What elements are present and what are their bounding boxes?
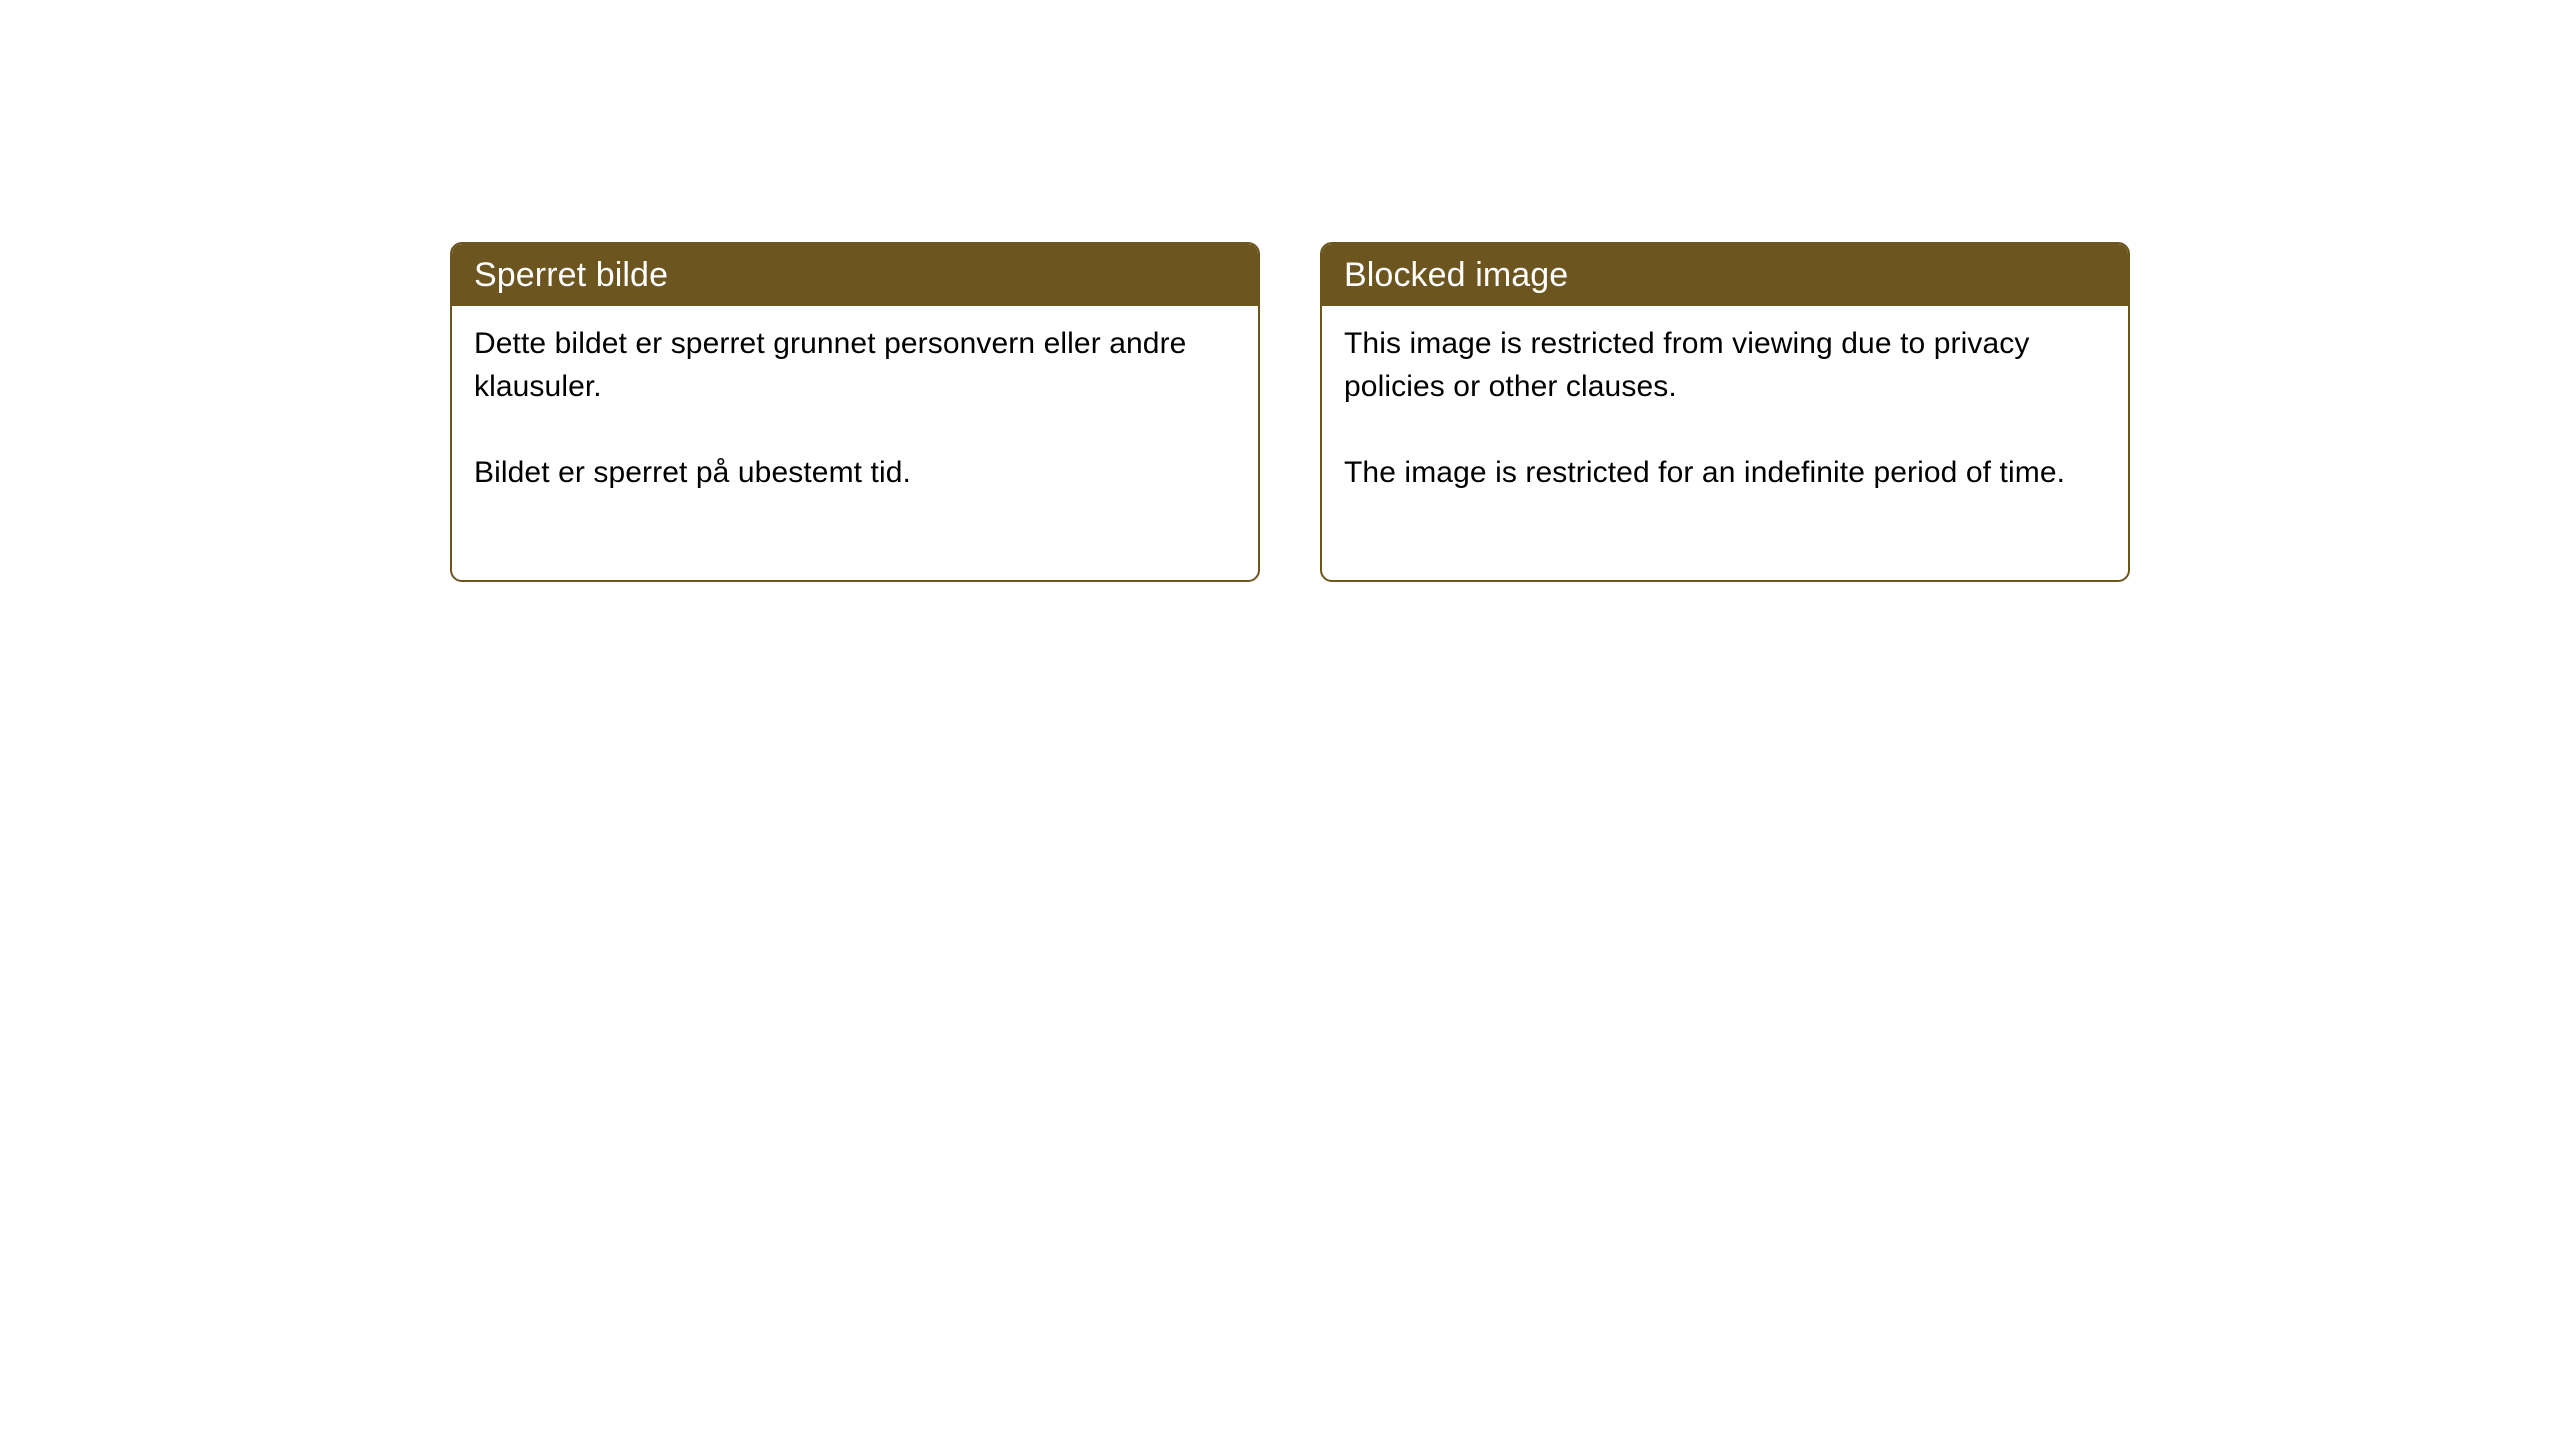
panel-header-english: Blocked image [1322, 244, 2128, 306]
page-canvas: Sperret bilde Dette bildet er sperret gr… [0, 0, 2560, 1440]
blocked-image-notice-english: Blocked image This image is restricted f… [1320, 242, 2130, 582]
paragraph-spacer [474, 408, 1236, 451]
panel-body-norwegian: Dette bildet er sperret grunnet personve… [452, 306, 1258, 512]
panel-header-norwegian: Sperret bilde [452, 244, 1258, 306]
panel-title-norwegian: Sperret bilde [474, 256, 668, 294]
paragraph-spacer [1344, 408, 2106, 451]
panel-body-english: This image is restricted from viewing du… [1322, 306, 2128, 512]
notice-paragraph-secondary-norwegian: Bildet er sperret på ubestemt tid. [474, 451, 1236, 494]
notice-paragraph-secondary-english: The image is restricted for an indefinit… [1344, 451, 2106, 494]
blocked-image-notice-norwegian: Sperret bilde Dette bildet er sperret gr… [450, 242, 1260, 582]
notice-paragraph-primary-norwegian: Dette bildet er sperret grunnet personve… [474, 322, 1236, 408]
notice-paragraph-primary-english: This image is restricted from viewing du… [1344, 322, 2106, 408]
panel-title-english: Blocked image [1344, 256, 1568, 294]
